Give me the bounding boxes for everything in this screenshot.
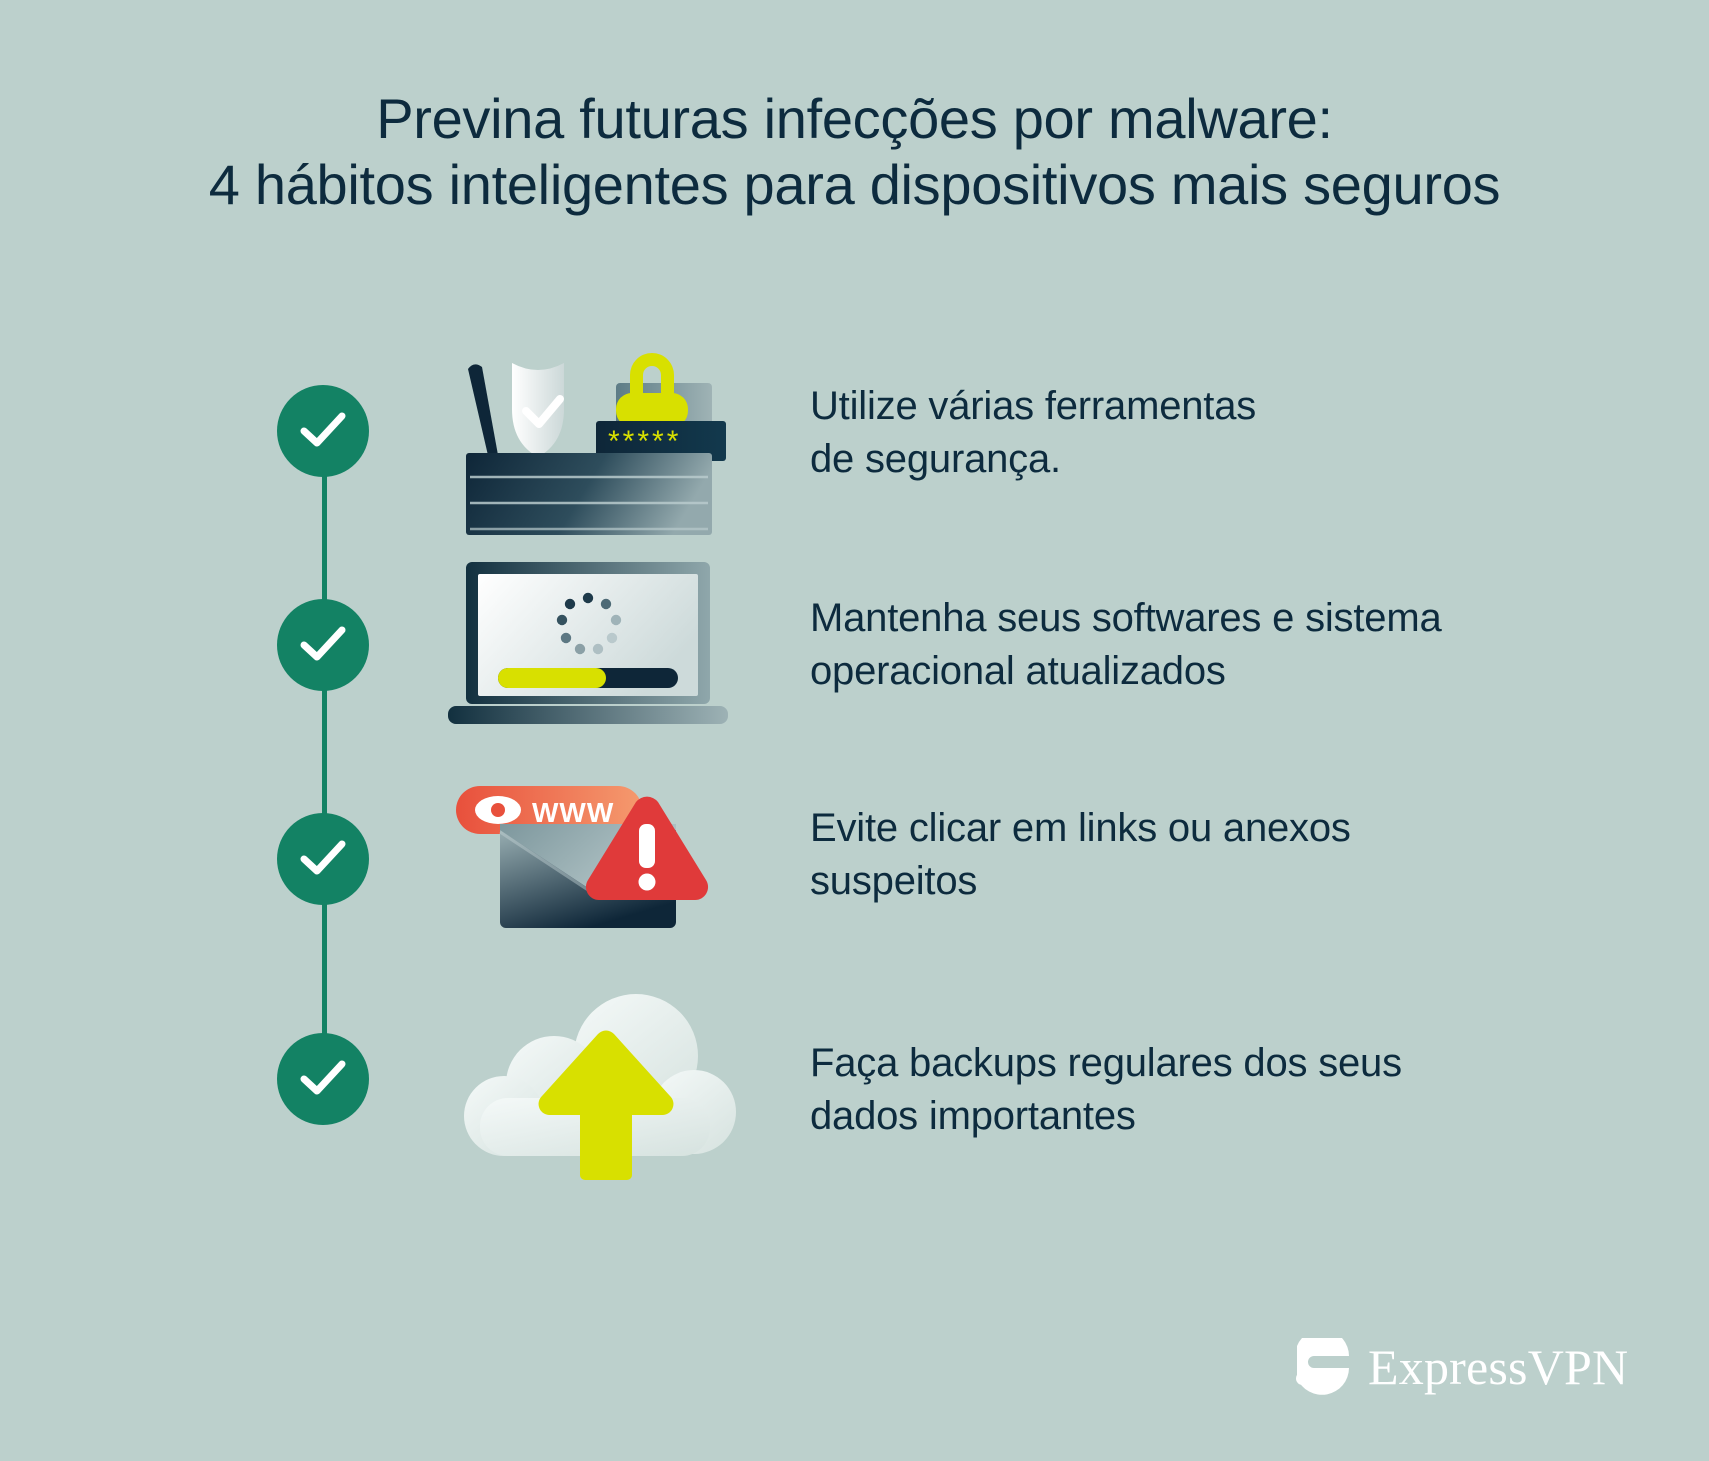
toolbox-shield-padlock-icon: *****: [440, 325, 760, 540]
step-marker-4: [277, 1033, 369, 1125]
page-title: Previna futuras infecções por malware: 4…: [0, 86, 1709, 218]
step-copy-1-line-2: de segurança.: [810, 433, 1256, 486]
brand-wordmark: ExpressVPN: [1368, 1342, 1628, 1392]
svg-text:WWW: WWW: [532, 797, 614, 828]
step-copy-1-line-1: Utilize várias ferramentas: [810, 380, 1256, 433]
step-marker-1: [277, 385, 369, 477]
expressvpn-e-mark-icon: [1294, 1338, 1352, 1396]
step-copy-3-line-2: suspeitos: [810, 855, 1351, 908]
brand-logo: ExpressVPN: [1294, 1338, 1628, 1396]
steps-timeline: [277, 385, 371, 1125]
check-icon: [299, 839, 347, 879]
laptop-update-icon: [440, 552, 760, 737]
step-copy-2: Mantenha seus softwares e sistema operac…: [810, 592, 1442, 698]
step-row-3: WWW Evite clicar em links ou anexos susp…: [440, 772, 1680, 937]
step-copy-3-line-1: Evite clicar em links ou anexos: [810, 802, 1351, 855]
infographic-canvas: Previna futuras infecções por malware: 4…: [0, 0, 1709, 1461]
step-marker-2: [277, 599, 369, 691]
step-copy-4: Faça backups regulares dos seus dados im…: [810, 1037, 1402, 1143]
step-copy-2-line-1: Mantenha seus softwares e sistema: [810, 592, 1442, 645]
step-row-1: ***** Utilize várias ferramentas de segu…: [440, 325, 1680, 540]
timeline-rail: [322, 430, 327, 1082]
check-icon: [299, 411, 347, 451]
step-row-2: Mantenha seus softwares e sistema operac…: [440, 552, 1680, 737]
step-copy-4-line-1: Faça backups regulares dos seus: [810, 1037, 1402, 1090]
check-icon: [299, 625, 347, 665]
title-line-2: 4 hábitos inteligentes para dispositivos…: [0, 152, 1709, 218]
title-line-1: Previna futuras infecções por malware:: [0, 86, 1709, 152]
step-copy-2-line-2: operacional atualizados: [810, 645, 1442, 698]
step-copy-4-line-2: dados importantes: [810, 1090, 1402, 1143]
cloud-backup-icon: [440, 990, 760, 1190]
step-copy-3: Evite clicar em links ou anexos suspeito…: [810, 802, 1351, 908]
step-marker-3: [277, 813, 369, 905]
suspicious-link-email-icon: WWW: [440, 772, 760, 937]
step-row-4: Faça backups regulares dos seus dados im…: [440, 990, 1680, 1190]
check-icon: [299, 1059, 347, 1099]
step-copy-1: Utilize várias ferramentas de segurança.: [810, 380, 1256, 486]
